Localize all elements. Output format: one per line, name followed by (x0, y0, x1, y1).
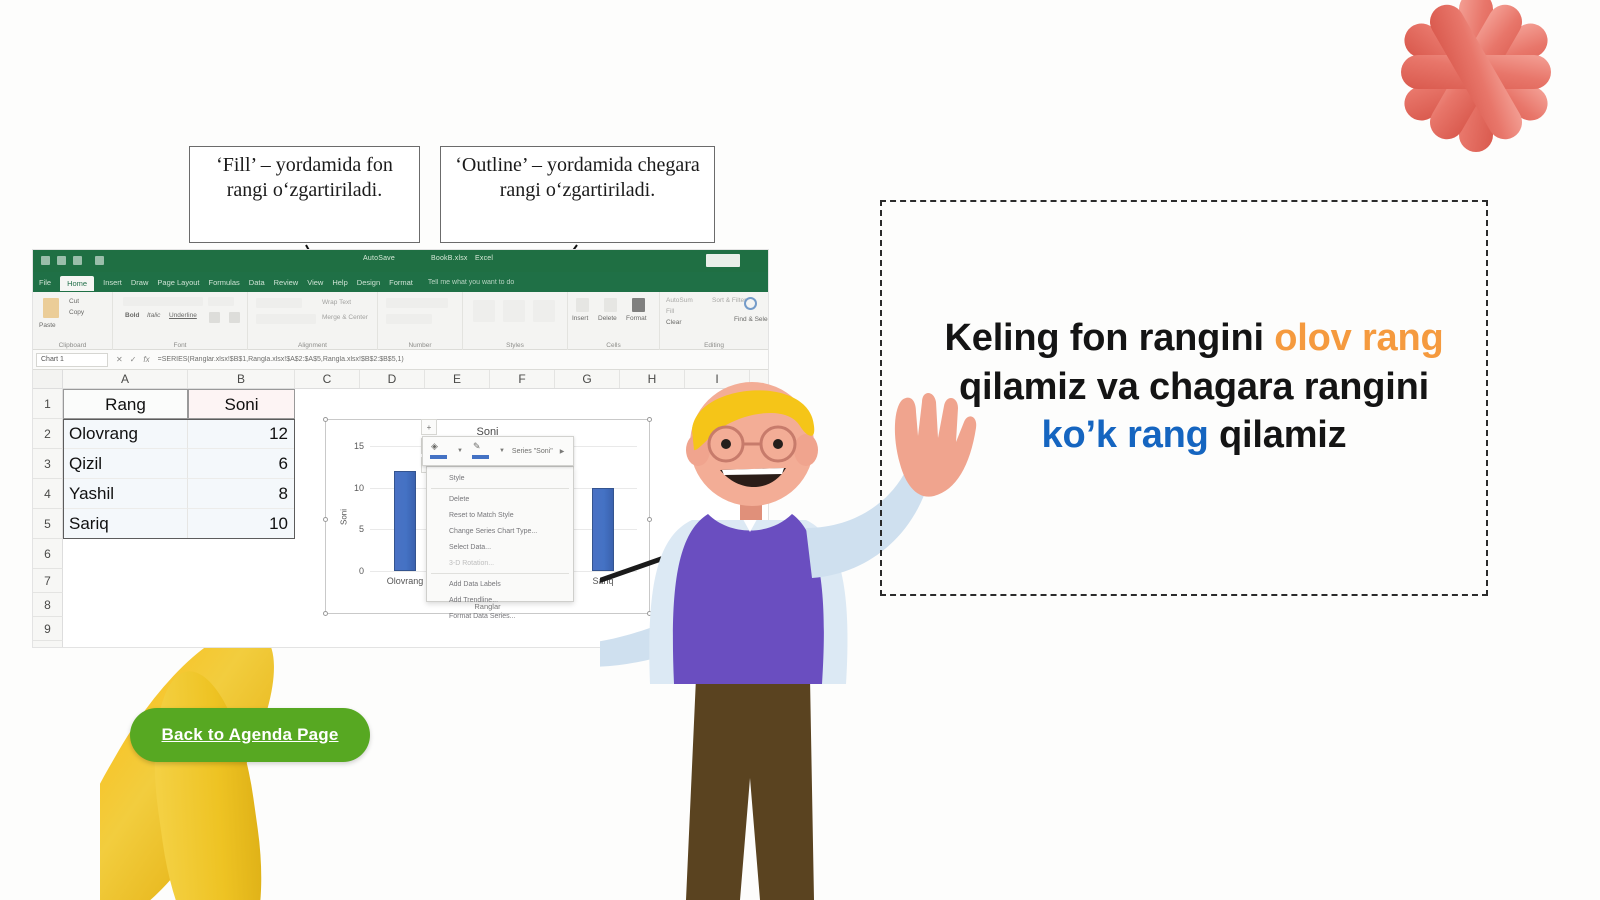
paste-label[interactable]: Paste (39, 322, 56, 329)
fill-bucket-icon: ◈ (431, 441, 438, 452)
find-select-label[interactable]: Find & Select (734, 316, 768, 323)
menu-item-select-data[interactable]: Select Data... (427, 539, 573, 555)
callout-outline: ‘Outline’ – yordamida chegara rangi o‘zg… (440, 146, 715, 243)
menu-item-style[interactable]: Style (427, 470, 573, 486)
cut-label[interactable]: Cut (69, 298, 79, 305)
cell-b5[interactable]: 10 (188, 509, 295, 539)
message-line1-plain: Keling fon rangini (945, 317, 1275, 359)
group-label-alignment: Alignment (248, 342, 377, 349)
chart-y-axis-label: Soni (340, 508, 349, 524)
ribbon-group-editing: AutoSum Fill Clear Sort & Filter Find & … (660, 292, 768, 350)
row-header-4[interactable]: 4 (33, 479, 63, 509)
cell-b2[interactable]: 12 (188, 419, 295, 449)
insert-cells-icon[interactable] (576, 298, 589, 312)
number-buttons[interactable] (386, 314, 432, 324)
cell-b1[interactable]: Soni (188, 389, 295, 419)
ribbon-tab-strip: File Home Insert Draw Page Layout Formul… (33, 272, 768, 292)
message-line1-accent: olov rang (1274, 317, 1443, 359)
chart-handle-tl[interactable] (323, 417, 328, 422)
menu-item-add-data-labels[interactable]: Add Data Labels (427, 576, 573, 592)
group-label-cells: Cells (568, 342, 659, 349)
autosum-label[interactable]: AutoSum (666, 297, 693, 304)
tab-data[interactable]: Data (249, 278, 265, 287)
row-header-1[interactable]: 1 (33, 389, 63, 419)
row-header-7[interactable]: 7 (33, 569, 63, 593)
column-header-f[interactable]: F (490, 370, 555, 388)
outline-button[interactable]: ✎ (470, 440, 492, 462)
row-header-6[interactable]: 6 (33, 539, 63, 569)
mini-toolbar[interactable]: ◈ ▼ ✎ ▼ Series "Soni" ▶ (422, 436, 574, 466)
pants (686, 678, 814, 900)
y-tick-5: 5 (359, 524, 364, 534)
vest (673, 514, 824, 684)
wrap-text-label[interactable]: Wrap Text (322, 299, 351, 306)
fill-button[interactable]: ◈ (428, 440, 450, 462)
back-to-agenda-button[interactable]: Back to Agenda Page (130, 708, 370, 762)
ribbon: Paste Cut Copy Clipboard Bold Italic Und… (33, 292, 768, 350)
ribbon-group-font: Bold Italic Underline Font (113, 292, 248, 350)
cell-a1[interactable]: Rang (63, 389, 188, 419)
message-line3-plain: qilamiz (1209, 414, 1347, 456)
clear-label[interactable]: Clear (666, 319, 682, 326)
row-header-column: 1 2 3 4 5 6 7 8 9 10 11 (33, 389, 63, 647)
tab-file[interactable]: File (39, 278, 51, 287)
context-menu[interactable]: Style Delete Reset to Match Style Change… (426, 466, 574, 602)
italic-icon[interactable]: Italic (147, 312, 160, 319)
font-name-box[interactable] (123, 297, 203, 306)
font-color-icon[interactable] (229, 312, 240, 323)
horizontal-align-icons[interactable] (256, 314, 316, 324)
save-icon[interactable] (41, 256, 50, 265)
row-header-10[interactable]: 10 (33, 641, 63, 647)
menu-item-delete[interactable]: Delete (427, 491, 573, 507)
y-tick-10: 10 (354, 483, 364, 493)
row-header-3[interactable]: 3 (33, 449, 63, 479)
message-line3-accent: ko’k rang (1042, 414, 1209, 456)
insert-function-icon[interactable]: fx (143, 355, 149, 364)
cell-a4[interactable]: Yashil (63, 479, 188, 509)
ribbon-group-alignment: Wrap Text Merge & Center Alignment (248, 292, 378, 350)
group-label-styles: Styles (463, 342, 567, 349)
tab-help[interactable]: Help (332, 278, 347, 287)
autosave-label: AutoSave (363, 255, 395, 262)
column-header-b[interactable]: B (188, 370, 295, 388)
number-format-select[interactable] (386, 298, 448, 308)
cell-a2[interactable]: Olovrang (63, 419, 188, 449)
tab-review[interactable]: Review (274, 278, 299, 287)
menu-item-format-data-series[interactable]: Format Data Series... (427, 608, 573, 624)
fill-label[interactable]: Fill (666, 308, 674, 315)
conditional-formatting-icon[interactable] (473, 300, 495, 322)
delete-cells-icon[interactable] (604, 298, 617, 312)
cell-b3[interactable]: 6 (188, 449, 295, 479)
message-box: Keling fon rangini olov rang qilamiz va … (880, 200, 1488, 596)
tab-page-layout[interactable]: Page Layout (157, 278, 199, 287)
copy-label[interactable]: Copy (69, 309, 84, 316)
menu-item-3d-rotation: 3-D Rotation... (427, 555, 573, 571)
group-label-editing: Editing (660, 342, 768, 349)
row-header-9[interactable]: 9 (33, 617, 63, 641)
cell-a5[interactable]: Sariq (63, 509, 188, 539)
ribbon-group-cells: Insert Delete Format Cells (568, 292, 660, 350)
formula-bar-icons: ✕ ✓ fx (108, 355, 158, 364)
bar-olovrang[interactable] (394, 471, 416, 571)
y-tick-0: 0 (359, 566, 364, 576)
message-line2: qilamiz va chagara rangini (959, 366, 1429, 408)
tab-format[interactable]: Format (389, 278, 413, 287)
callout-fill: ‘Fill’ – yordamida fon rangi o‘zgartiril… (189, 146, 420, 243)
chart-elements-icon[interactable]: + (421, 419, 437, 435)
tab-insert[interactable]: Insert (103, 278, 122, 287)
cell-b4[interactable]: 8 (188, 479, 295, 509)
tell-me-box[interactable]: Tell me what you want to do (428, 279, 514, 286)
back-to-agenda-label: Back to Agenda Page (162, 725, 339, 745)
tab-draw[interactable]: Draw (131, 278, 149, 287)
fill-caret-icon[interactable]: ▼ (457, 448, 463, 454)
name-box[interactable]: Chart 1 (36, 353, 108, 367)
left-eye (721, 439, 731, 449)
slide-canvas: ‘Fill’ – yordamida fon rangi o‘zgartiril… (0, 0, 1600, 900)
menu-item-reset-to-match-style[interactable]: Reset to Match Style (427, 507, 573, 523)
formula-input[interactable]: =SERIES(Ranglar.xlsx!$B$1,Rangla.xlsx!$A… (158, 356, 768, 363)
chart-handle-bl[interactable] (323, 611, 328, 616)
menu-item-add-trendline[interactable]: Add Trendline... (427, 592, 573, 608)
paste-icon[interactable] (43, 298, 59, 318)
series-label[interactable]: Series "Soni" (512, 448, 553, 455)
tab-view[interactable]: View (307, 278, 323, 287)
formula-bar: Chart 1 ✕ ✓ fx =SERIES(Ranglar.xlsx!$B$1… (33, 350, 768, 370)
bold-icon[interactable]: Bold (125, 312, 139, 319)
tab-home[interactable]: Home (60, 276, 94, 291)
font-size-box[interactable] (208, 297, 234, 306)
ribbon-group-styles: Styles (463, 292, 568, 350)
outline-caret-icon[interactable]: ▼ (499, 448, 505, 454)
group-label-clipboard: Clipboard (33, 342, 112, 349)
red-asterisk-decoration (1352, 0, 1600, 158)
group-label-number: Number (378, 342, 462, 349)
outline-pen-icon: ✎ (473, 441, 481, 452)
undo-icon[interactable] (57, 256, 66, 265)
yellow-ribbon-decoration (100, 630, 400, 900)
find-select-icon[interactable] (744, 297, 757, 310)
x-tick-olovrang: Olovrang (387, 576, 424, 586)
column-header-c[interactable]: C (295, 370, 360, 388)
sort-filter-label[interactable]: Sort & Filter (712, 297, 746, 304)
format-label[interactable]: Format (626, 315, 647, 322)
message-text: Keling fon rangini olov rang qilamiz va … (892, 314, 1496, 460)
format-as-table-icon[interactable] (503, 300, 525, 322)
group-label-font: Font (113, 342, 247, 349)
column-header-e[interactable]: E (425, 370, 490, 388)
row-header-2[interactable]: 2 (33, 419, 63, 449)
menu-item-change-series-chart-type[interactable]: Change Series Chart Type... (427, 523, 573, 539)
row-header-5[interactable]: 5 (33, 509, 63, 539)
merge-center-label[interactable]: Merge & Center (322, 314, 368, 321)
filename-label: BookB.xlsx (431, 255, 468, 262)
insert-label[interactable]: Insert (572, 315, 588, 322)
redo-icon[interactable] (73, 256, 82, 265)
app-label: Excel (475, 255, 493, 262)
cell-styles-icon[interactable] (533, 300, 555, 322)
series-caret-icon[interactable]: ▶ (560, 448, 565, 455)
vertical-align-icons[interactable] (256, 298, 302, 308)
column-header-d[interactable]: D (360, 370, 425, 388)
select-all-corner[interactable] (33, 370, 63, 388)
right-ear (794, 434, 818, 466)
column-header-a[interactable]: A (63, 370, 188, 388)
y-tick-15: 15 (354, 441, 364, 451)
excel-title-bar: AutoSave BookB.xlsx Excel (33, 250, 768, 272)
cancel-icon[interactable]: ✕ (116, 355, 123, 364)
ribbon-group-number: Number (378, 292, 463, 350)
underline-icon[interactable]: Underline (169, 312, 197, 319)
enter-icon[interactable]: ✓ (130, 355, 137, 364)
sign-in-button[interactable] (706, 254, 740, 267)
cell-a3[interactable]: Qizil (63, 449, 188, 479)
row-header-8[interactable]: 8 (33, 593, 63, 617)
fill-color-icon[interactable] (209, 312, 220, 323)
delete-label[interactable]: Delete (598, 315, 617, 322)
tab-design[interactable]: Design (357, 278, 380, 287)
touch-mode-icon[interactable] (95, 256, 104, 265)
tab-formulas[interactable]: Formulas (209, 278, 240, 287)
right-eye (773, 439, 783, 449)
ribbon-group-clipboard: Paste Cut Copy Clipboard (33, 292, 113, 350)
chart-handle-ml[interactable] (323, 517, 328, 522)
format-cells-icon[interactable] (632, 298, 645, 312)
